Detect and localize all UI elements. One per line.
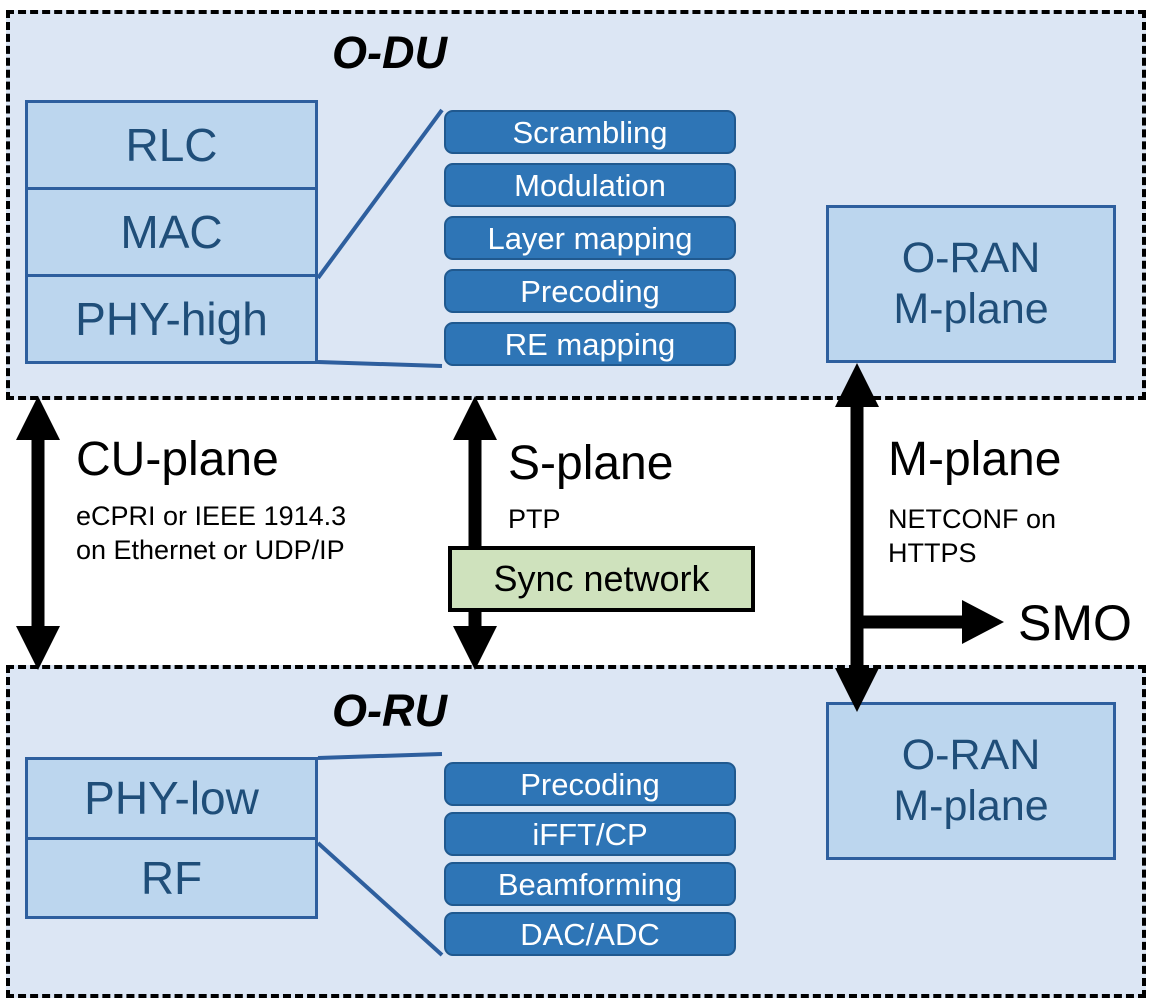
odu-function-precoding: Precoding [444, 269, 736, 313]
odu-function-re-mapping: RE mapping [444, 322, 736, 366]
cu-plane-title: CU-plane [76, 436, 279, 484]
oru-stack-row-phy-low: PHY-low [28, 760, 315, 840]
s-plane-arrow [453, 396, 497, 670]
oru-oran-mplane-box: O-RAN M-plane [826, 702, 1116, 860]
odu-title: O-DU [332, 30, 447, 75]
smo-label: SMO [1018, 598, 1132, 648]
s-plane-title: S-plane [508, 440, 673, 488]
odu-protocol-stack: RLC MAC PHY-high [25, 100, 318, 364]
oru-function-precoding: Precoding [444, 762, 736, 806]
odu-stack-row-phy-high: PHY-high [28, 277, 315, 361]
oru-mplane-line2: M-plane [893, 781, 1048, 832]
oru-stack-row-rf: RF [28, 840, 315, 917]
odu-function-modulation: Modulation [444, 163, 736, 207]
oran-architecture-diagram: O-DU RLC MAC PHY-high Scrambling Modulat… [0, 0, 1176, 1006]
oru-mplane-line1: O-RAN [902, 730, 1041, 781]
odu-function-scrambling: Scrambling [444, 110, 736, 154]
odu-function-layer-mapping: Layer mapping [444, 216, 736, 260]
odu-stack-row-mac: MAC [28, 190, 315, 277]
s-plane-subtitle: PTP [508, 503, 561, 537]
oru-function-dac-adc: DAC/ADC [444, 912, 736, 956]
sync-network-box: Sync network [448, 546, 755, 612]
m-plane-title: M-plane [888, 436, 1061, 484]
oru-function-beamforming: Beamforming [444, 862, 736, 906]
oru-protocol-stack: PHY-low RF [25, 757, 318, 919]
m-plane-subtitle: NETCONF on HTTPS [888, 503, 1056, 571]
cu-plane-subtitle: eCPRI or IEEE 1914.3 on Ethernet or UDP/… [76, 500, 346, 568]
odu-oran-mplane-box: O-RAN M-plane [826, 205, 1116, 363]
smo-branch-arrow [857, 600, 1004, 644]
oru-title: O-RU [332, 688, 447, 733]
odu-mplane-line1: O-RAN [902, 233, 1041, 284]
cu-plane-arrow [16, 396, 60, 670]
m-plane-arrow [835, 363, 879, 712]
odu-stack-row-rlc: RLC [28, 103, 315, 190]
odu-mplane-line2: M-plane [893, 284, 1048, 335]
oru-function-ifft-cp: iFFT/CP [444, 812, 736, 856]
